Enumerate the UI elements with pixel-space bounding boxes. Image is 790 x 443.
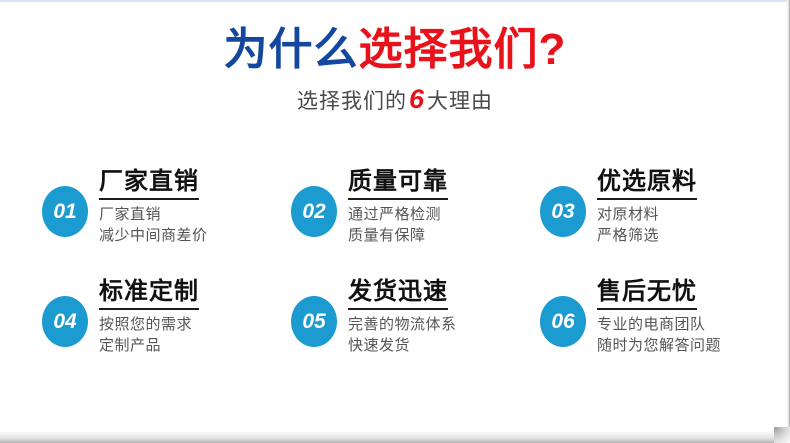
- reason-number-badge: 06: [540, 296, 586, 347]
- reason-item-06: 06 售后无忧 专业的电商团队 随时为您解答问题: [540, 273, 789, 383]
- reason-text-block: 标准定制 按照您的需求 定制产品: [99, 273, 199, 356]
- reason-desc-line-2: 严格筛选: [597, 225, 697, 246]
- why-choose-us-banner: 为什么选择我们? 选择我们的6大理由 01 厂家直销 厂家直销 减少中间商差价 …: [0, 0, 790, 443]
- reason-desc-line-1: 完善的物流体系: [348, 314, 457, 335]
- reason-desc-line-1: 对原材料: [597, 204, 697, 225]
- page-edge-corner: [774, 427, 790, 443]
- reason-desc-line-1: 厂家直销: [99, 204, 208, 225]
- reason-desc-line-1: 通过严格检测: [348, 204, 448, 225]
- reason-desc-line-2: 定制产品: [99, 335, 199, 356]
- subtitle-prefix: 选择我们的: [297, 90, 407, 113]
- reason-desc-line-2: 快速发货: [348, 335, 457, 356]
- reason-desc-line-1: 按照您的需求: [99, 314, 199, 335]
- reason-title: 质量可靠: [348, 168, 448, 200]
- heading-block: 为什么选择我们? 选择我们的6大理由: [0, 24, 790, 115]
- reasons-grid: 01 厂家直销 厂家直销 减少中间商差价 02 质量可靠 通过严格检测 质量有保…: [42, 163, 758, 383]
- reason-desc-line-1: 专业的电商团队: [597, 314, 721, 335]
- top-divider: [0, 0, 790, 2]
- reason-number-badge: 04: [42, 296, 88, 347]
- subtitle-suffix: 大理由: [427, 90, 493, 113]
- reason-text-block: 质量可靠 通过严格检测 质量有保障: [348, 163, 448, 246]
- reason-item-01: 01 厂家直销 厂家直销 减少中间商差价: [42, 163, 291, 273]
- reason-desc-line-2: 质量有保障: [348, 225, 448, 246]
- reason-title: 发货迅速: [348, 278, 448, 310]
- reason-number-badge: 02: [291, 186, 337, 237]
- reason-text-block: 售后无忧 专业的电商团队 随时为您解答问题: [597, 273, 721, 356]
- reason-title: 标准定制: [99, 278, 199, 310]
- reason-desc-line-2: 减少中间商差价: [99, 225, 208, 246]
- reason-item-04: 04 标准定制 按照您的需求 定制产品: [42, 273, 291, 383]
- subtitle-count: 6: [407, 84, 427, 114]
- page-title-blue-segment: 为什么: [224, 25, 359, 74]
- reason-item-02: 02 质量可靠 通过严格检测 质量有保障: [291, 163, 540, 273]
- page-title: 为什么选择我们?: [0, 24, 790, 76]
- reason-title: 优选原料: [597, 168, 697, 200]
- reason-text-block: 发货迅速 完善的物流体系 快速发货: [348, 273, 457, 356]
- page-edge-bottom: [0, 431, 790, 443]
- reason-text-block: 厂家直销 厂家直销 减少中间商差价: [99, 163, 208, 246]
- reason-item-05: 05 发货迅速 完善的物流体系 快速发货: [291, 273, 540, 383]
- reason-number-badge: 03: [540, 186, 586, 237]
- reason-desc-line-2: 随时为您解答问题: [597, 335, 721, 356]
- reason-title: 售后无忧: [597, 278, 697, 310]
- reason-number-badge: 05: [291, 296, 337, 347]
- reason-title: 厂家直销: [99, 168, 199, 200]
- reason-number-badge: 01: [42, 186, 88, 237]
- reason-item-03: 03 优选原料 对原材料 严格筛选: [540, 163, 789, 273]
- page-title-red-segment: 选择我们?: [359, 25, 567, 74]
- reason-text-block: 优选原料 对原材料 严格筛选: [597, 163, 697, 246]
- page-subtitle: 选择我们的6大理由: [0, 86, 790, 115]
